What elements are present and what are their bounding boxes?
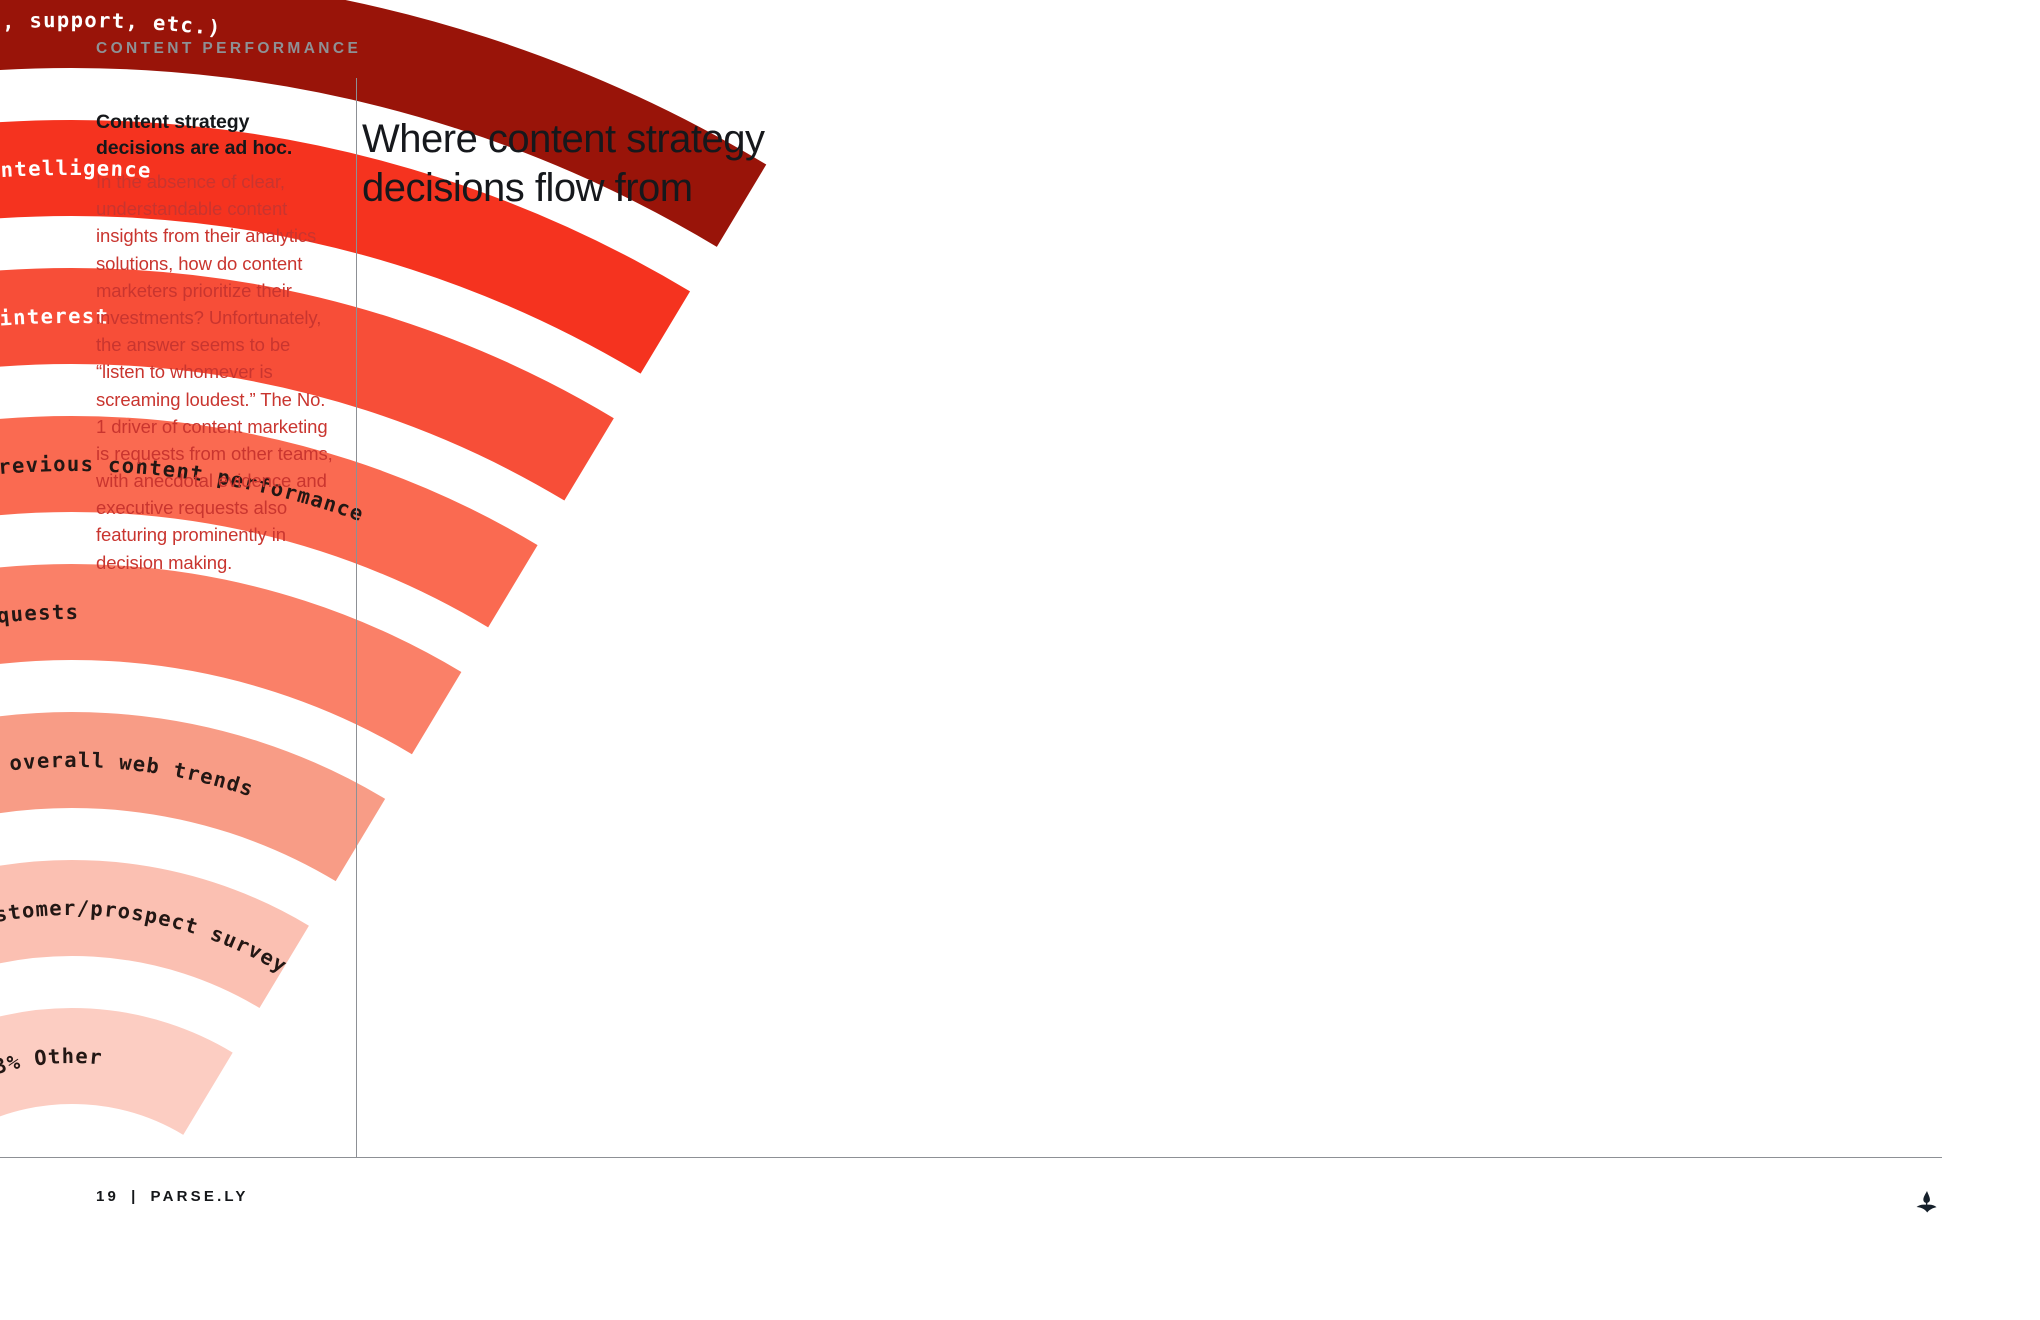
arc-label: 51.6% Anecdotal evidence of interest xyxy=(0,304,110,429)
parsely-leaf-logo-icon xyxy=(1916,1190,1938,1214)
page-title: Where content strategy decisions flow fr… xyxy=(362,115,982,213)
footer-separator: | xyxy=(119,1188,150,1205)
deck-heading: Content strategy decisions are ad hoc. xyxy=(96,110,328,162)
infographic-page: 68.7% Requests from other teams (sales, … xyxy=(0,0,2040,1320)
arc-band xyxy=(0,1056,208,1311)
footer: 19|PARSE.LY xyxy=(96,1188,249,1205)
footer-divider-rule xyxy=(96,1157,1942,1158)
footer-brand: PARSE.LY xyxy=(151,1188,249,1205)
column-divider-rule xyxy=(356,78,357,1158)
section-eyebrow: CONTENT PERFORMANCE xyxy=(96,40,361,58)
footer-page-number: 19 xyxy=(96,1188,119,1205)
body-paragraph: In the absence of clear, understandable … xyxy=(96,168,340,576)
